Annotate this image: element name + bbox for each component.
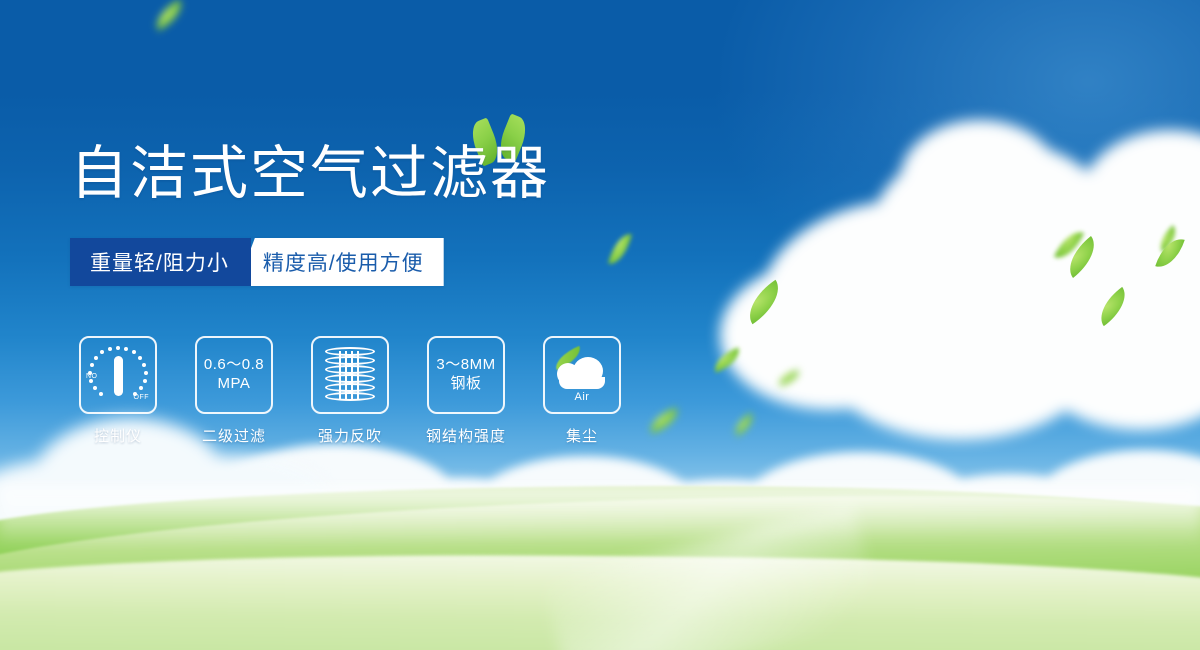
- filter-coil-icon: [325, 347, 375, 403]
- feature-icon-box: Air: [543, 336, 621, 414]
- feature-label: 控制仪: [94, 425, 142, 446]
- feature-icon-box: 3〜8MM 钢板: [427, 336, 505, 414]
- subtitle-left: 重量轻/阻力小: [70, 238, 251, 286]
- feature-label: 二级过滤: [202, 425, 266, 446]
- page-title: 自洁式空气过滤器: [70, 145, 550, 203]
- feature-label: 强力反吹: [318, 425, 382, 446]
- feature-icon-box: 0.6〜0.8 MPA: [195, 336, 273, 414]
- gauge-no-label: NO: [86, 373, 98, 380]
- feature-item-blowback[interactable]: 强力反吹: [310, 336, 390, 446]
- grass-haze: [0, 486, 1200, 546]
- cloud-large-right: [720, 120, 1200, 450]
- feature-icon-box: NO OFF: [79, 336, 157, 414]
- feature-icon-box: [311, 336, 389, 414]
- steel-line-1: 3〜8MM: [436, 356, 495, 375]
- gauge-off-label: OFF: [134, 394, 150, 401]
- gauge-needle: [114, 356, 123, 396]
- pressure-line-2: MPA: [204, 375, 264, 394]
- air-label: Air: [551, 391, 613, 403]
- product-banner: 自洁式空气过滤器 重量轻/阻力小 精度高/使用方便: [0, 0, 1200, 650]
- gauge-icon: NO OFF: [88, 346, 148, 404]
- pressure-line-1: 0.6〜0.8: [204, 356, 264, 375]
- steel-plate-text-icon: 3〜8MM 钢板: [436, 356, 495, 394]
- feature-item-pressure[interactable]: 0.6〜0.8 MPA 二级过滤: [194, 336, 274, 446]
- feature-item-steel[interactable]: 3〜8MM 钢板 钢结构强度: [426, 336, 506, 446]
- feature-item-dust[interactable]: Air 集尘: [542, 336, 622, 446]
- steel-line-2: 钢板: [436, 375, 495, 394]
- feature-label: 钢结构强度: [426, 425, 506, 446]
- feature-list: NO OFF 控制仪 0.6〜0.8 MPA 二级过滤: [78, 336, 622, 446]
- subtitle-bar: 重量轻/阻力小 精度高/使用方便: [70, 238, 444, 286]
- air-cloud-icon: Air: [551, 349, 613, 401]
- subtitle-right: 精度高/使用方便: [237, 238, 444, 286]
- feature-label: 集尘: [566, 425, 598, 446]
- feature-item-controller[interactable]: NO OFF 控制仪: [78, 336, 158, 446]
- pressure-text-icon: 0.6〜0.8 MPA: [204, 356, 264, 394]
